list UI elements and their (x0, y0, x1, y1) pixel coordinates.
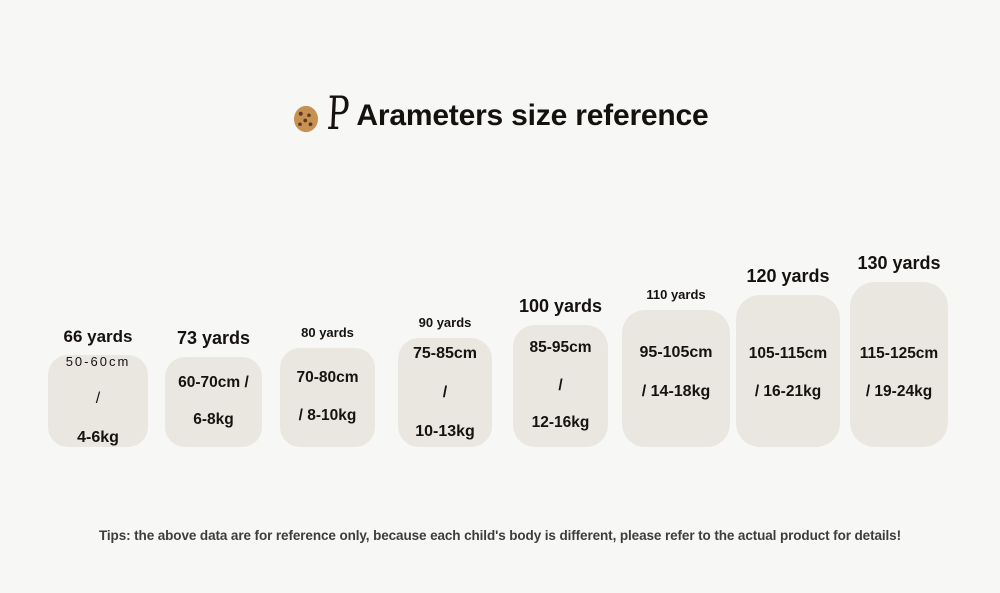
size-value-separator: / (413, 383, 477, 403)
size-value-separator: / (66, 389, 131, 409)
size-value: 115-125cm / 19-24kg (860, 326, 938, 421)
size-value-line-2: / 14-18kg (640, 382, 713, 402)
size-label: 100 yards (519, 296, 602, 317)
size-value-line-1: 95-105cm (640, 343, 713, 363)
tips-note: Tips: the above data are for reference o… (0, 528, 1000, 543)
size-label: 80 yards (301, 325, 354, 340)
size-column: 80 yards 70-80cm / 8-10kg (280, 348, 375, 447)
size-label: 130 yards (857, 253, 940, 274)
size-box[interactable]: 105-115cm / 16-21kg (736, 295, 840, 447)
size-value-kg: 4-6kg (66, 428, 131, 448)
size-box[interactable]: 115-125cm / 19-24kg (850, 282, 948, 447)
size-box[interactable]: 85-95cm / 12-16kg (513, 325, 608, 447)
size-chart: 66 yards 50-60cm / 4-6kg 73 yards 60-70c… (0, 0, 1000, 593)
size-value-line-1: 60-70cm / (178, 374, 249, 393)
size-value-separator: / (529, 377, 591, 396)
size-value-line-2: / 16-21kg (749, 383, 827, 402)
size-value-line-2: / 8-10kg (296, 407, 358, 426)
size-value: 105-115cm / 16-21kg (749, 326, 827, 421)
size-column: 66 yards 50-60cm / 4-6kg (48, 355, 148, 447)
size-label: 66 yards (64, 327, 133, 347)
size-box[interactable]: 70-80cm / 8-10kg (280, 348, 375, 447)
size-value: 85-95cm / 12-16kg (529, 320, 591, 452)
size-value: 50-60cm / 4-6kg (66, 335, 131, 468)
size-value-cm: 50-60cm (66, 354, 131, 370)
size-column: 110 yards 95-105cm / 14-18kg (622, 310, 730, 447)
size-value: 60-70cm / 6-8kg (178, 355, 249, 450)
size-label: 90 yards (419, 315, 472, 330)
size-column: 73 yards 60-70cm / 6-8kg (165, 357, 262, 447)
size-label: 110 yards (646, 287, 705, 302)
size-value-line-2: 6-8kg (178, 411, 249, 430)
size-column: 100 yards 85-95cm / 12-16kg (513, 325, 608, 447)
size-value-line-2: / 19-24kg (860, 383, 938, 402)
size-column: 120 yards 105-115cm / 16-21kg (736, 295, 840, 447)
size-box[interactable]: 95-105cm / 14-18kg (622, 310, 730, 447)
size-value: 75-85cm / 10-13kg (413, 324, 477, 461)
size-column: 90 yards 75-85cm / 10-13kg (398, 338, 492, 447)
size-value: 70-80cm / 8-10kg (296, 350, 358, 445)
size-box[interactable]: 75-85cm / 10-13kg (398, 338, 492, 447)
size-value-line-1: 105-115cm (749, 345, 827, 364)
size-value-line-1: 75-85cm (413, 344, 477, 364)
size-value-line-2: 10-13kg (413, 422, 477, 442)
size-box[interactable]: 50-60cm / 4-6kg (48, 355, 148, 447)
size-label: 73 yards (177, 328, 250, 349)
size-column: 130 yards 115-125cm / 19-24kg (850, 282, 948, 447)
size-value-line-2: 12-16kg (529, 414, 591, 433)
size-value: 95-105cm / 14-18kg (640, 323, 713, 421)
size-value-line-1: 115-125cm (860, 345, 938, 364)
size-value-line-1: 85-95cm (529, 339, 591, 358)
size-box[interactable]: 60-70cm / 6-8kg (165, 357, 262, 447)
size-label: 120 yards (746, 266, 829, 287)
size-value-line-1: 70-80cm (296, 369, 358, 388)
